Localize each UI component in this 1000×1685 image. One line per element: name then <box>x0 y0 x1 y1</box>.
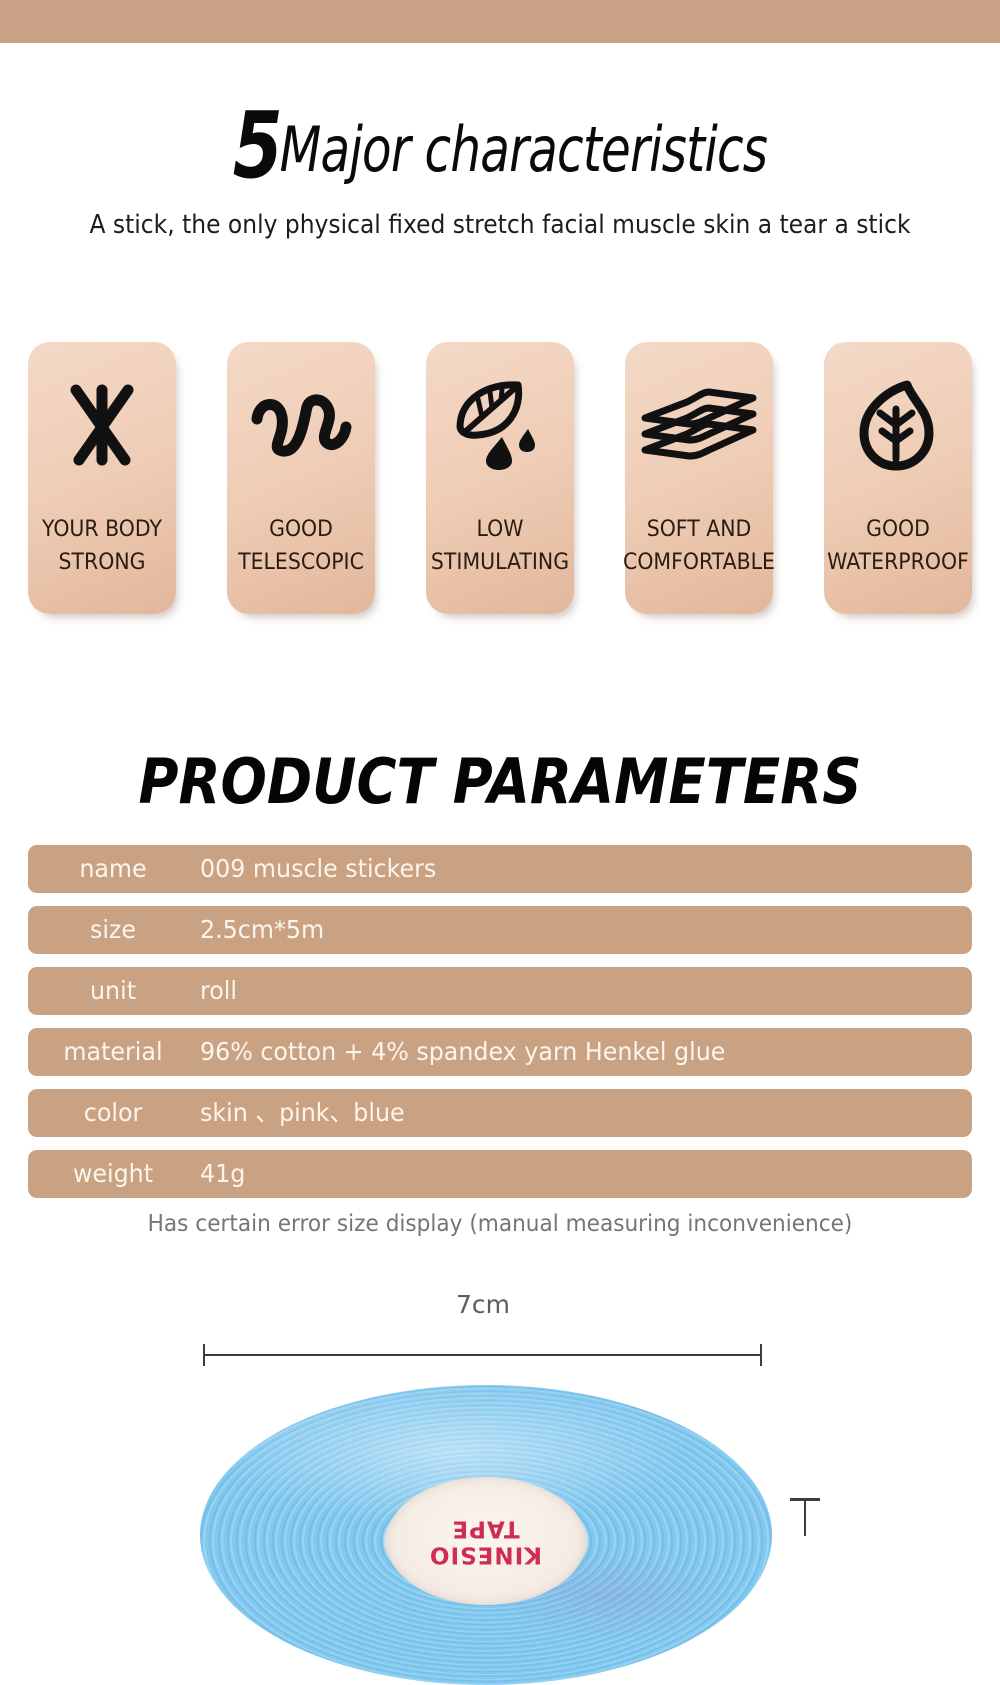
dimension-cap-right <box>760 1344 762 1366</box>
param-value: 009 muscle stickers <box>200 845 436 893</box>
table-row: name 009 muscle stickers <box>28 845 972 893</box>
zigzag-spring-icon <box>227 370 375 480</box>
param-key: unit <box>32 967 194 1015</box>
param-key: name <box>32 845 194 893</box>
hero-number: 5 <box>233 92 280 199</box>
stacked-sheets-icon <box>625 370 773 480</box>
hero-title-text: Major characteristics <box>280 113 768 186</box>
table-row: weight 41g <box>28 1150 972 1198</box>
product-photo-tape-roll: KINESIO TAPE <box>200 1385 772 1685</box>
param-value: 41g <box>200 1150 245 1198</box>
dimension-horizontal-line <box>203 1354 762 1356</box>
param-key: material <box>32 1028 194 1076</box>
hero-subtitle: A stick, the only physical fixed stretch… <box>50 210 950 240</box>
feature-card-soft-and-comfortable: SOFT AND COMFORTABLE <box>625 342 773 614</box>
table-row: unit roll <box>28 967 972 1015</box>
leaf-droplet-icon <box>426 370 574 480</box>
parameters-note: Has certain error size display (manual m… <box>30 1211 970 1237</box>
param-key: size <box>32 906 194 954</box>
feature-card-your-body-strong: YOUR BODY STRONG <box>28 342 176 614</box>
brand-label-text: KINESIO TAPE <box>429 1515 542 1567</box>
hero-section: 5Major characteristics A stick, the only… <box>0 100 1000 240</box>
param-value: 96% cotton + 4% spandex yarn Henkel glue <box>200 1028 725 1076</box>
cross-strands-icon <box>28 370 176 480</box>
product-parameters-heading: PRODUCT PARAMETERS <box>60 745 940 818</box>
feature-card-label: GOOD TELESCOPIC <box>208 514 394 579</box>
feature-card-low-stimulating: LOW STIMULATING <box>426 342 574 614</box>
dimension-width-label: 7cm <box>383 1290 583 1319</box>
waterproof-leaf-icon <box>824 370 972 480</box>
page-title: 5Major characteristics <box>110 100 890 192</box>
table-row: color skin 、pink、blue <box>28 1089 972 1137</box>
param-value: 2.5cm*5m <box>200 906 324 954</box>
feature-card-list: YOUR BODY STRONG GOOD TELESCOPIC L <box>28 342 972 626</box>
dimension-cap-left <box>203 1344 205 1366</box>
param-key: weight <box>32 1150 194 1198</box>
tape-roll-hub-label: KINESIO TAPE <box>386 1477 586 1605</box>
param-key: color <box>32 1089 194 1137</box>
feature-card-label: SOFT AND COMFORTABLE <box>606 514 792 579</box>
dimension-vertical-line <box>804 1500 806 1536</box>
table-row: material 96% cotton + 4% spandex yarn He… <box>28 1028 972 1076</box>
param-value: skin 、pink、blue <box>200 1089 405 1137</box>
feature-card-label: GOOD WATERPROOF <box>805 514 991 579</box>
feature-card-label: LOW STIMULATING <box>407 514 593 579</box>
product-parameters-table: name 009 muscle stickers size 2.5cm*5m u… <box>28 845 972 1211</box>
param-value: roll <box>200 967 237 1015</box>
table-row: size 2.5cm*5m <box>28 906 972 954</box>
feature-card-good-waterproof: GOOD WATERPROOF <box>824 342 972 614</box>
feature-card-good-telescopic: GOOD TELESCOPIC <box>227 342 375 614</box>
top-banner <box>0 0 1000 43</box>
feature-card-label: YOUR BODY STRONG <box>9 514 195 579</box>
